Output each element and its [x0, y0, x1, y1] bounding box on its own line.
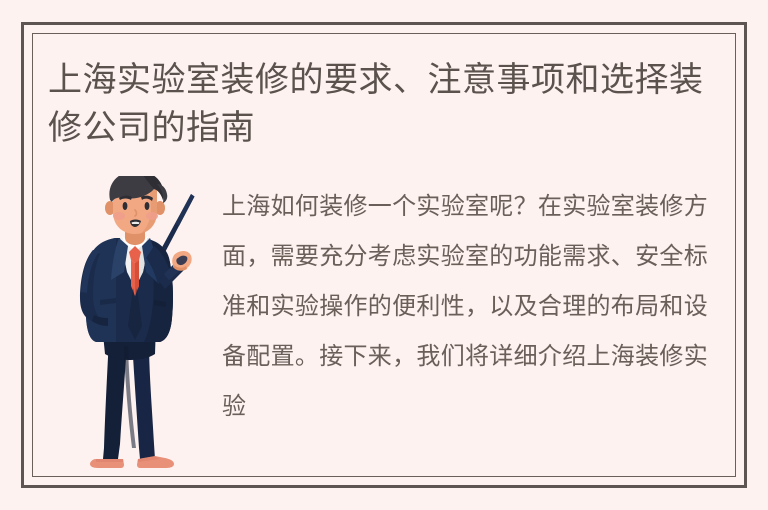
businessman-svg: [60, 176, 210, 476]
article-body: 上海如何装修一个实验室呢？在实验室装修方面，需要充分考虑实验室的功能需求、安全标…: [222, 182, 712, 432]
businessman-with-pointer-illustration: [60, 176, 210, 476]
head: [105, 176, 167, 234]
card-content: 上海实验室装修的要求、注意事项和选择装修公司的指南: [0, 0, 768, 510]
article-title: 上海实验室装修的要求、注意事项和选择装修公司的指南: [48, 56, 708, 152]
shoes: [90, 456, 174, 468]
trousers: [102, 324, 156, 459]
article-card: 上海实验室装修的要求、注意事项和选择装修公司的指南: [0, 0, 768, 510]
